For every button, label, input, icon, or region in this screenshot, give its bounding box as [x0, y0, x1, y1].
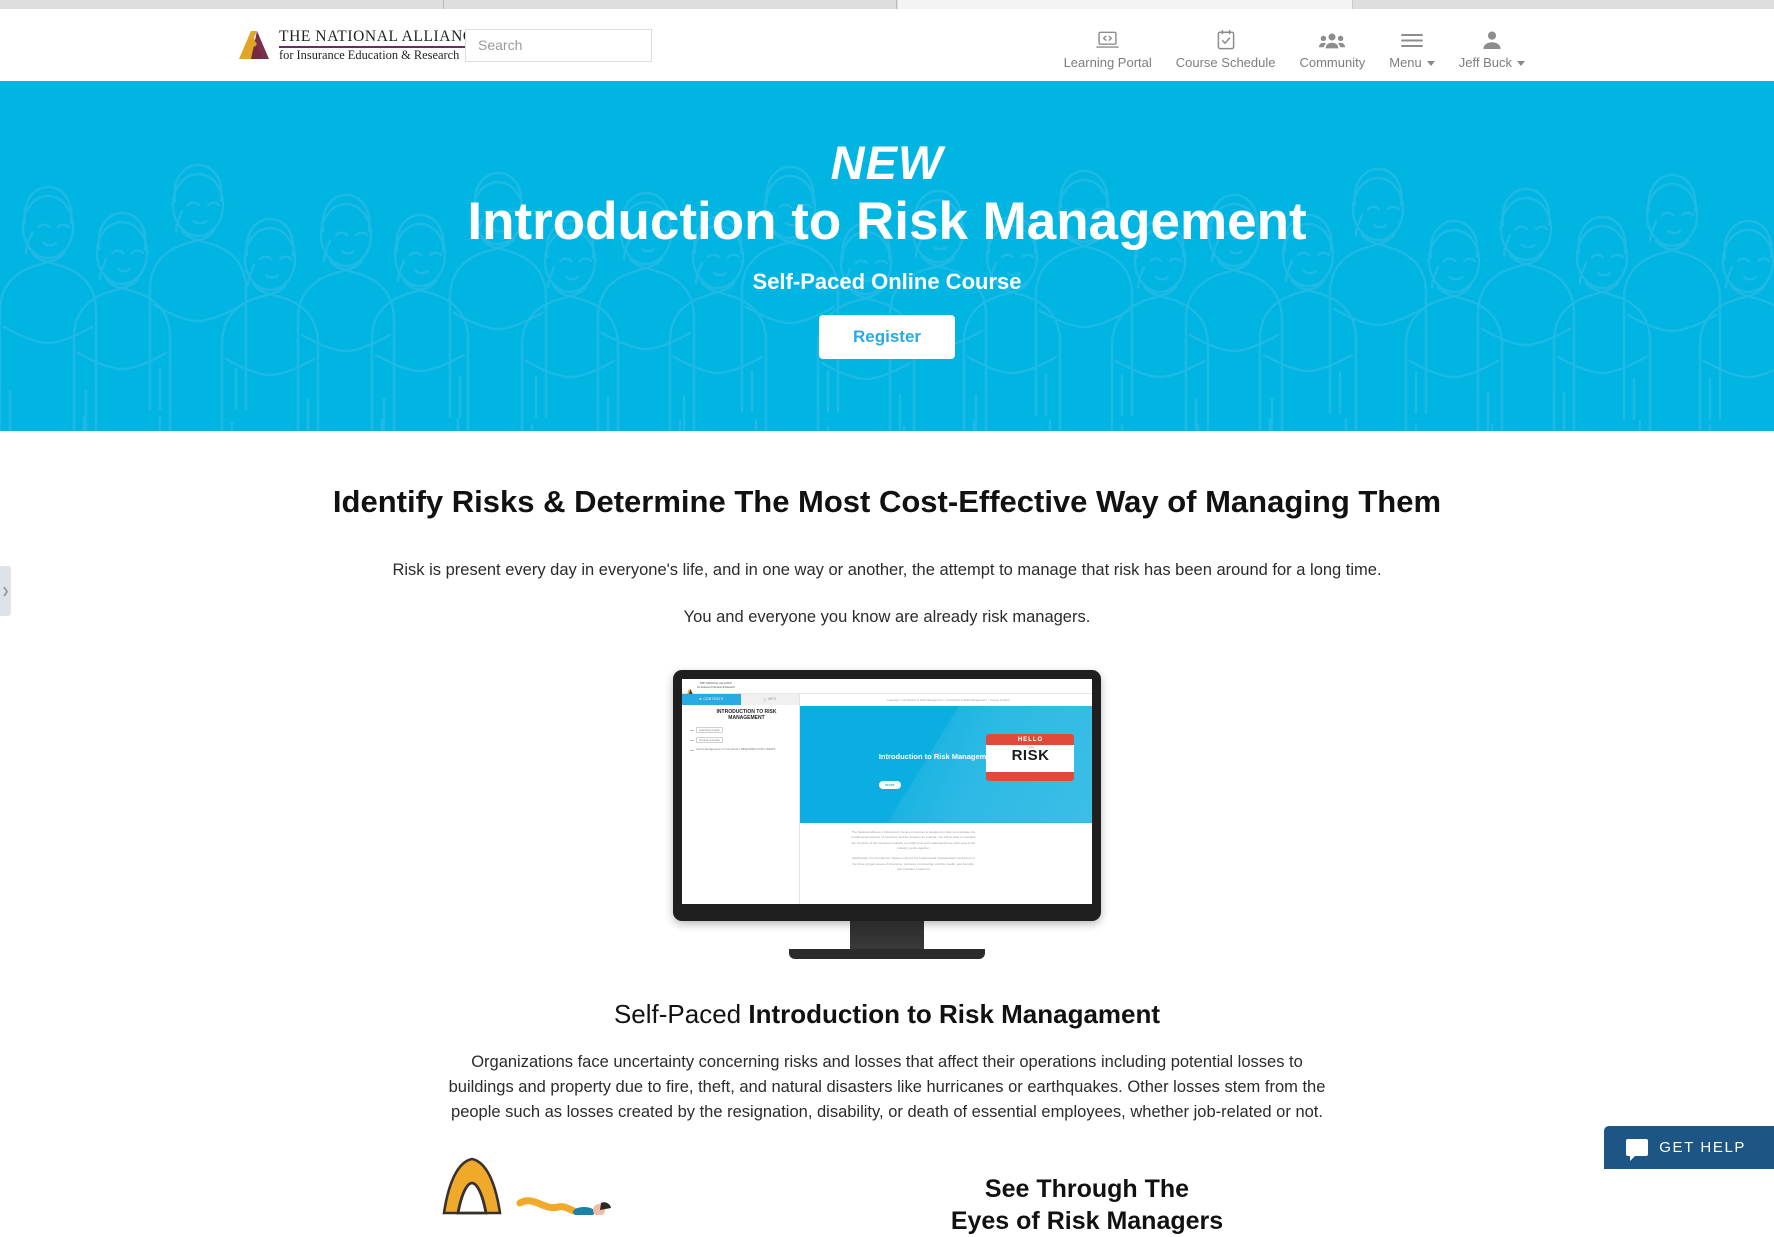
lms-start-button[interactable]: START: [879, 781, 901, 789]
monitor-base: [789, 949, 985, 959]
lms-topbar: THE NATIONAL ALLIANCE for Insurance Educ…: [682, 679, 1092, 694]
left-slideout-tab[interactable]: ❯: [0, 566, 11, 616]
chevron-right-icon: ❯: [2, 587, 10, 596]
nav-label: Community: [1299, 56, 1365, 69]
monitor-mockup-image: THE NATIONAL ALLIANCE for Insurance Educ…: [297, 670, 1477, 959]
laptop-code-icon: [1096, 27, 1119, 53]
nav-item-user-account[interactable]: Jeff Buck: [1447, 17, 1537, 69]
nav-item-learning-portal[interactable]: Learning Portal: [1052, 17, 1164, 69]
nav-label: Menu: [1389, 55, 1422, 70]
chevron-down-icon: [1517, 61, 1525, 66]
browser-tab[interactable]: [0, 0, 444, 9]
search-input[interactable]: [465, 29, 652, 62]
nav-item-menu[interactable]: Menu: [1377, 17, 1447, 69]
nav-label: Course Schedule: [1176, 56, 1276, 69]
lms-body-text: The National Alliance's Introductory Ser…: [800, 823, 1092, 873]
lms-logo-text: THE NATIONAL ALLIANCE for Insurance Educ…: [697, 682, 735, 688]
lead-paragraph-2: You and everyone you know are already ri…: [297, 605, 1477, 630]
get-help-button[interactable]: GET HELP: [1604, 1126, 1774, 1169]
subsection-title-normal: Self-Paced: [614, 999, 748, 1029]
alliance-triangle-logo-icon: [237, 27, 273, 63]
chat-bubble-icon: [1626, 1139, 1648, 1156]
get-help-label: GET HELP: [1659, 1139, 1746, 1156]
logo-line-1: THE NATIONAL ALLIANCE: [279, 29, 484, 45]
site-header: THE NATIONAL ALLIANCE for Insurance Educ…: [0, 9, 1774, 81]
lms-tree-item[interactable]: Course Content: [686, 737, 795, 743]
bottom-heading-line-1: See Through The: [985, 1175, 1189, 1203]
subsection-title-bold: Introduction to Risk Managament: [748, 999, 1160, 1029]
lms-tree-item[interactable]: Learning Guide: [686, 727, 795, 733]
bottom-heading: See Through The Eyes of Risk Managers: [697, 1173, 1477, 1237]
lms-slide: Introduction to Risk Management START HE…: [800, 706, 1092, 823]
browser-tab[interactable]: [445, 0, 897, 9]
lms-tab-contents[interactable]: ⚙ CONTENTS: [682, 694, 741, 705]
user-icon: [1482, 27, 1502, 53]
nav-label: Learning Portal: [1064, 56, 1152, 69]
lead-paragraph-1: Risk is present every day in everyone's …: [297, 558, 1477, 583]
monitor-bezel: THE NATIONAL ALLIANCE for Insurance Educ…: [673, 670, 1101, 921]
tent-camper-illustration: [352, 1155, 697, 1215]
page-title: Identify Risks & Determine The Most Cost…: [297, 483, 1477, 520]
lms-paragraph-2: Additionally, the Introductory Series ex…: [851, 856, 976, 872]
register-button[interactable]: Register: [819, 315, 955, 359]
lms-sidebar: ⚙ CONTENTS ⓘ INFO INTRODUCTIO: [682, 694, 800, 904]
lms-content-tree: Learning Guide Course Content Acknowledg…: [686, 727, 795, 751]
lms-slide-title: Introduction to Risk Management: [879, 752, 998, 761]
hamburger-icon: [1400, 27, 1424, 53]
header-nav: Learning Portal Course Schedule: [1052, 19, 1537, 71]
hero-subtitle: Self-Paced Online Course: [753, 269, 1022, 295]
lms-paragraph-1: The National Alliance's Introductory Ser…: [851, 830, 976, 852]
hello-risk-nametag: HELLO I am RISK: [986, 734, 1074, 781]
nav-item-course-schedule[interactable]: Course Schedule: [1164, 17, 1288, 69]
hero-eyebrow: NEW: [831, 139, 944, 186]
hero-title: Introduction to Risk Management: [467, 190, 1306, 255]
breadcrumb: Learning > Introduction to Risk Manageme…: [800, 694, 1092, 706]
bottom-heading-line-2: Eyes of Risk Managers: [951, 1207, 1223, 1235]
users-icon: [1319, 27, 1345, 53]
calendar-check-icon: [1216, 27, 1236, 53]
browser-tab-strip: [0, 0, 1774, 9]
main-content: Identify Risks & Determine The Most Cost…: [0, 431, 1774, 1237]
lms-main-panel: Learning > Introduction to Risk Manageme…: [800, 694, 1092, 904]
nav-label: Jeff Buck: [1459, 55, 1512, 70]
subsection-body: Organizations face uncertainty concernin…: [447, 1050, 1327, 1125]
alliance-triangle-logo-icon: [686, 682, 694, 689]
monitor-screen: THE NATIONAL ALLIANCE for Insurance Educ…: [682, 679, 1092, 904]
lms-tree-item[interactable]: Acknowledgement of Completion REQUIRED F…: [686, 747, 795, 751]
chevron-down-icon: [1427, 61, 1435, 66]
logo-line-2: for Insurance Education & Research: [279, 49, 484, 61]
lms-course-title: INTRODUCTION TO RISK MANAGEMENT: [686, 710, 795, 722]
subsection-title: Self-Paced Introduction to Risk Managame…: [297, 999, 1477, 1030]
brand-logo[interactable]: THE NATIONAL ALLIANCE for Insurance Educ…: [237, 27, 442, 63]
lms-tab-info[interactable]: ⓘ INFO: [741, 694, 800, 705]
nav-item-community[interactable]: Community: [1287, 17, 1377, 69]
monitor-neck: [850, 921, 924, 949]
hero-banner: NEW Introduction to Risk Management Self…: [0, 81, 1774, 431]
browser-tab-active[interactable]: [898, 0, 1353, 9]
